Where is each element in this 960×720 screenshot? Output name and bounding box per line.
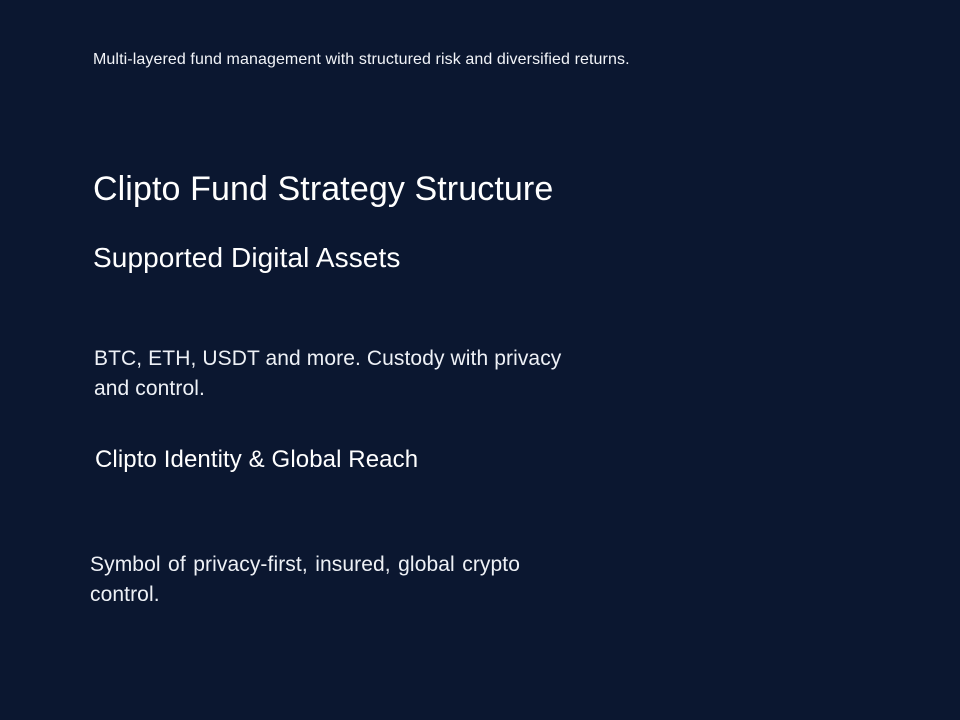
section-supported-digital-assets: Supported Digital Assets BTC, ETH, USDT … [93,240,564,404]
page-title: Clipto Fund Strategy Structure [93,168,553,210]
section-body-supported-digital-assets: BTC, ETH, USDT and more. Custody with pr… [94,344,564,404]
section-heading-clipto-identity-global-reach: Clipto Identity & Global Reach [95,444,560,476]
section-body-clipto-identity-global-reach: Symbol of privacy-first, insured, global… [90,550,560,610]
section-clipto-identity-global-reach: Clipto Identity & Global Reach Symbol of… [93,444,560,610]
slide-canvas: Multi-layered fund management with struc… [0,0,960,720]
slide-caption: Multi-layered fund management with struc… [93,49,630,71]
section-heading-supported-digital-assets: Supported Digital Assets [93,240,564,276]
